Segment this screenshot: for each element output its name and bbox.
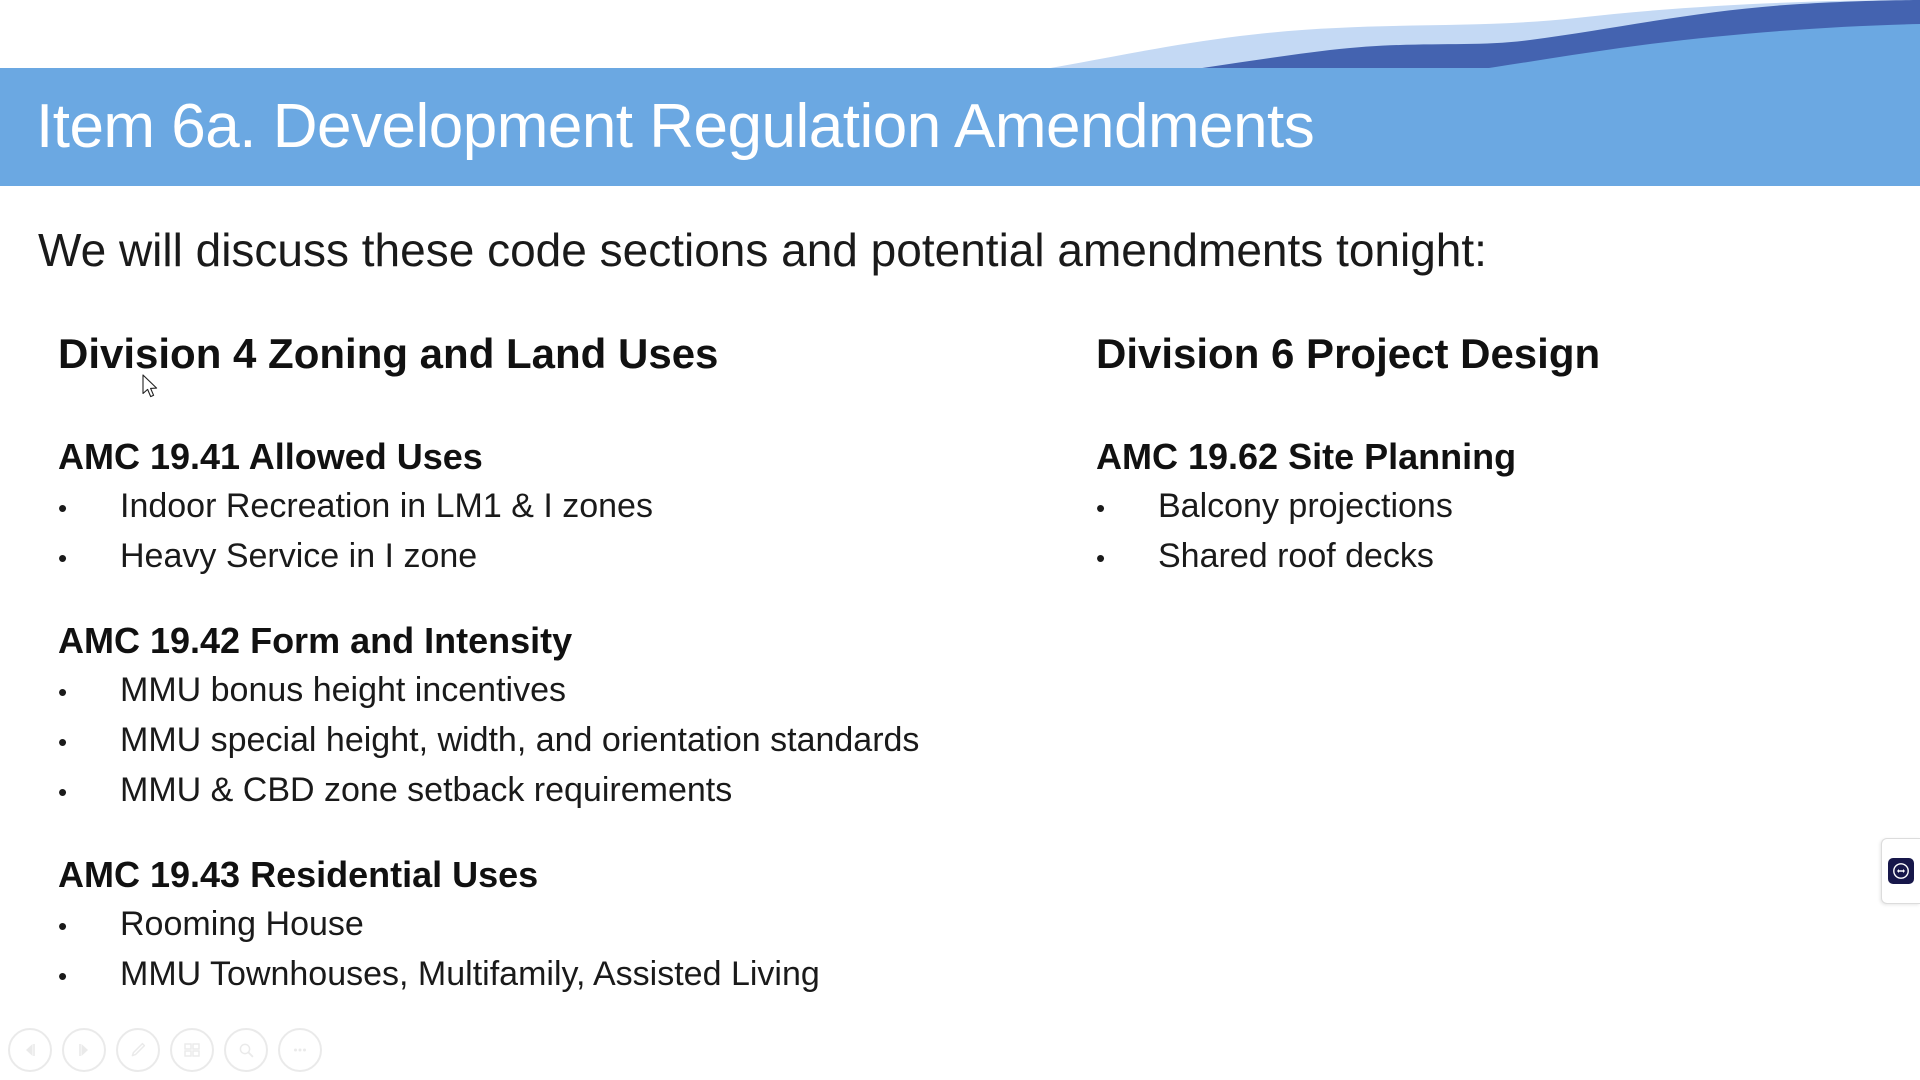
bullet-text: MMU Townhouses, Multifamily, Assisted Li… bbox=[120, 950, 820, 998]
list-item: MMU Townhouses, Multifamily, Assisted Li… bbox=[58, 950, 1058, 1000]
section-title: AMC 19.42 Form and Intensity bbox=[58, 620, 1058, 662]
column-division-6: Division 6 Project Design AMC 19.62 Site… bbox=[1096, 330, 1896, 582]
section-bullet-list: Indoor Recreation in LM1 & I zones Heavy… bbox=[58, 482, 1058, 582]
bullet-dot-icon bbox=[58, 952, 120, 1000]
bullet-dot-icon bbox=[58, 902, 120, 950]
bullet-dot-icon bbox=[58, 484, 120, 532]
presenter-toolbar[interactable] bbox=[8, 1028, 322, 1072]
list-item: Shared roof decks bbox=[1096, 532, 1896, 582]
slide-intro-text: We will discuss these code sections and … bbox=[38, 223, 1487, 277]
column-division-4: Division 4 Zoning and Land Uses AMC 19.4… bbox=[58, 330, 1058, 1000]
list-item: Indoor Recreation in LM1 & I zones bbox=[58, 482, 1058, 532]
slide-title-banner: Item 6a. Development Regulation Amendmen… bbox=[0, 68, 1920, 186]
bullet-dot-icon bbox=[1096, 534, 1158, 582]
section-amc-19-43: AMC 19.43 Residential Uses Rooming House… bbox=[58, 854, 1058, 1000]
section-title: AMC 19.41 Allowed Uses bbox=[58, 436, 1058, 478]
previous-arrow-icon bbox=[20, 1040, 40, 1060]
bullet-text: Heavy Service in I zone bbox=[120, 532, 477, 580]
bullet-text: MMU special height, width, and orientati… bbox=[120, 716, 919, 764]
section-bullet-list: Balcony projections Shared roof decks bbox=[1096, 482, 1896, 582]
section-bullet-list: MMU bonus height incentives MMU special … bbox=[58, 666, 1058, 816]
bullet-text: MMU bonus height incentives bbox=[120, 666, 566, 714]
teamviewer-arrows-icon bbox=[1888, 858, 1914, 884]
section-amc-19-42: AMC 19.42 Form and Intensity MMU bonus h… bbox=[58, 620, 1058, 816]
ellipsis-icon bbox=[290, 1040, 310, 1060]
teamviewer-tab[interactable] bbox=[1881, 838, 1920, 904]
list-item: MMU special height, width, and orientati… bbox=[58, 716, 1058, 766]
more-options-button[interactable] bbox=[278, 1028, 322, 1072]
section-title: AMC 19.43 Residential Uses bbox=[58, 854, 1058, 896]
pen-tools-button[interactable] bbox=[116, 1028, 160, 1072]
bullet-dot-icon bbox=[58, 668, 120, 716]
section-title: AMC 19.62 Site Planning bbox=[1096, 436, 1896, 478]
presentation-slide: Item 6a. Development Regulation Amendmen… bbox=[0, 0, 1920, 1080]
bullet-text: MMU & CBD zone setback requirements bbox=[120, 766, 732, 814]
magnifier-icon bbox=[236, 1040, 256, 1060]
list-item: Heavy Service in I zone bbox=[58, 532, 1058, 582]
section-amc-19-41: AMC 19.41 Allowed Uses Indoor Recreation… bbox=[58, 436, 1058, 582]
bullet-text: Indoor Recreation in LM1 & I zones bbox=[120, 482, 653, 530]
all-slides-button[interactable] bbox=[170, 1028, 214, 1072]
section-bullet-list: Rooming House MMU Townhouses, Multifamil… bbox=[58, 900, 1058, 1000]
list-item: Rooming House bbox=[58, 900, 1058, 950]
pen-icon bbox=[128, 1040, 148, 1060]
list-item: MMU & CBD zone setback requirements bbox=[58, 766, 1058, 816]
bullet-dot-icon bbox=[58, 718, 120, 766]
list-item: MMU bonus height incentives bbox=[58, 666, 1058, 716]
column-heading: Division 6 Project Design bbox=[1096, 330, 1896, 378]
previous-slide-button[interactable] bbox=[8, 1028, 52, 1072]
next-arrow-icon bbox=[74, 1040, 94, 1060]
grid-slides-icon bbox=[182, 1040, 202, 1060]
bullet-dot-icon bbox=[58, 768, 120, 816]
list-item: Balcony projections bbox=[1096, 482, 1896, 532]
zoom-slide-button[interactable] bbox=[224, 1028, 268, 1072]
bullet-text: Shared roof decks bbox=[1158, 532, 1434, 580]
bullet-text: Balcony projections bbox=[1158, 482, 1453, 530]
bullet-dot-icon bbox=[58, 534, 120, 582]
column-heading: Division 4 Zoning and Land Uses bbox=[58, 330, 1058, 378]
next-slide-button[interactable] bbox=[62, 1028, 106, 1072]
section-amc-19-62: AMC 19.62 Site Planning Balcony projecti… bbox=[1096, 436, 1896, 582]
bullet-text: Rooming House bbox=[120, 900, 364, 948]
slide-title: Item 6a. Development Regulation Amendmen… bbox=[36, 96, 1314, 158]
bullet-dot-icon bbox=[1096, 484, 1158, 532]
